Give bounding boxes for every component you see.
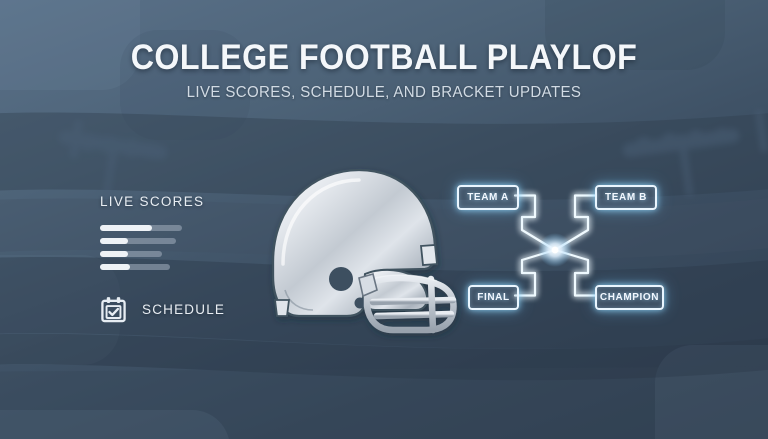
score-bar-fill [100,264,130,270]
bracket-node-label: FINAL [477,292,509,303]
bracket-node-team-b[interactable]: TEAM B [595,185,657,210]
header: COLLEGE FOOTBALL PLAYLOF LIVE SCORES, SC… [0,40,768,102]
bracket-node-label: TEAM A [467,192,509,203]
score-bar-row [100,238,260,244]
score-bar-fill [100,225,152,231]
bracket-node-final[interactable]: FINAL [468,285,519,310]
score-bar-row [100,251,260,257]
playoff-bracket: TEAM A TEAM B FINAL CHAMPION [440,165,680,325]
bracket-node-champion[interactable]: CHAMPION [595,285,664,310]
score-bar-list [100,225,260,270]
calendar-check-icon [100,296,127,323]
score-bar-row [100,225,260,231]
promo-graphic-canvas: COLLEGE FOOTBALL PLAYLOF LIVE SCORES, SC… [0,0,768,439]
schedule-label: SCHEDULE [142,302,225,317]
bracket-node-team-a[interactable]: TEAM A [457,185,519,210]
page-subtitle: LIVE SCORES, SCHEDULE, AND BRACKET UPDAT… [23,84,745,102]
schedule-row: SCHEDULE [100,296,260,323]
score-bar-row [100,264,260,270]
score-bar-fill [100,238,128,244]
score-bar-fill [100,251,128,257]
live-scores-label: LIVE SCORES [100,194,260,209]
page-title: COLLEGE FOOTBALL PLAYLOF [31,40,738,77]
bracket-node-label: TEAM B [605,192,647,203]
live-scores-panel: LIVE SCORES [100,194,260,323]
bracket-node-label: CHAMPION [600,292,659,303]
